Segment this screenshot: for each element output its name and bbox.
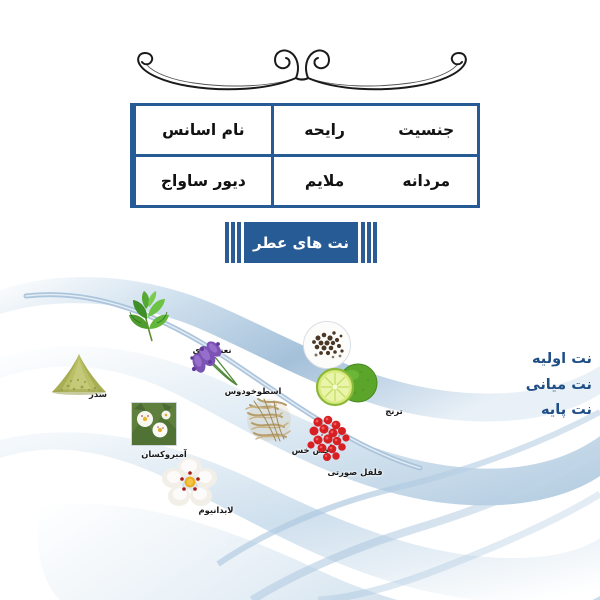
table-header-gender: جنسیت (375, 106, 477, 154)
notes-legend: نت اولیه نت میانی نت پایه (510, 352, 592, 418)
table-header-essence-name: نام اسانس (133, 106, 271, 154)
banner-bar (225, 222, 229, 263)
labdanum-flower-icon (161, 456, 219, 508)
bergamot-citrus-icon (311, 360, 381, 410)
pink-pepper-berries-icon (302, 412, 356, 464)
banner-bars-right (361, 222, 377, 263)
notes-section-banner: نت های عطر (225, 222, 377, 263)
banner-bar (373, 222, 377, 263)
table-value-row: مردانه ملایم دیور ساواج (133, 157, 477, 205)
banner-bar (237, 222, 241, 263)
ingredient-label: فلفل صورتی (327, 468, 382, 476)
ingredient-label: ترنج (385, 407, 403, 415)
poster-canvas: جنسیت رایحه نام اسانس مردانه ملایم دیور … (0, 0, 600, 600)
ingredient-label: سدر (89, 390, 107, 398)
note-label-top: نت اولیه (532, 352, 592, 367)
table-value-essence-name: دیور ساواج (133, 157, 271, 205)
note-label-base: نت پایه (541, 403, 592, 418)
banner-bar (361, 222, 365, 263)
flourish-divider-icon (128, 38, 476, 96)
ingredient-label: لابدانیوم (198, 506, 233, 514)
table-value-gender: مردانه (375, 157, 477, 205)
vetiver-root-icon (240, 393, 298, 447)
banner-bars-left (225, 222, 241, 263)
banner-label: نت های عطر (244, 222, 358, 263)
banner-bar (231, 222, 235, 263)
banner-bar (367, 222, 371, 263)
mint-leaves-icon (119, 289, 185, 347)
table-header-scent: رایحه (271, 106, 376, 154)
wave-background-art (0, 262, 600, 600)
perfume-info-table: جنسیت رایحه نام اسانس مردانه ملایم دیور … (130, 103, 480, 208)
rockrose-photo-icon (131, 402, 177, 446)
note-label-middle: نت میانی (526, 378, 592, 393)
table-value-scent: ملایم (271, 157, 376, 205)
table-header-row: جنسیت رایحه نام اسانس (133, 106, 477, 157)
lavender-sprig-icon (185, 335, 247, 391)
